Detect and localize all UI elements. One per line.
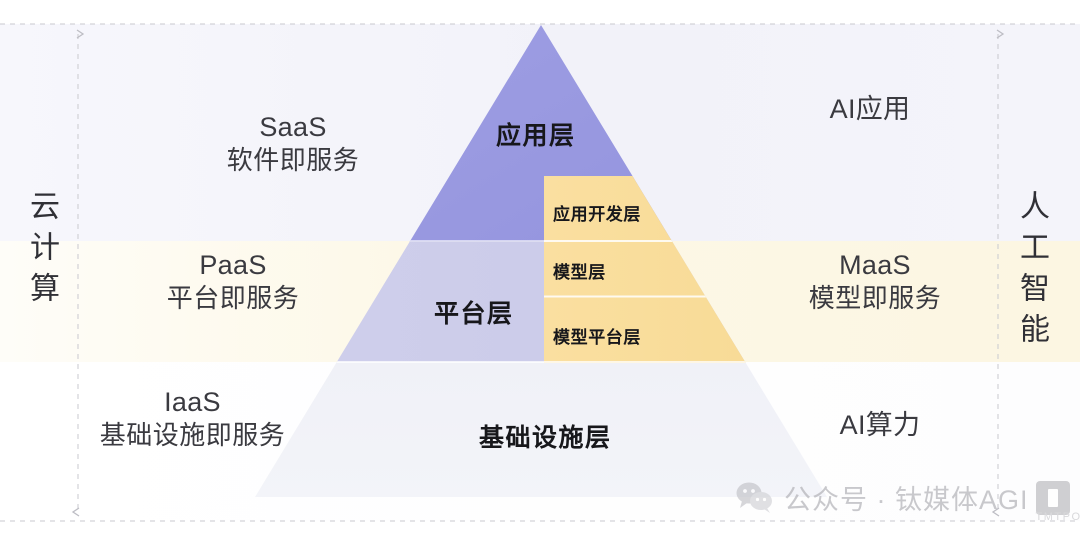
left-label-saas-en: SaaS — [208, 110, 378, 144]
right-label-ai-app: AI应用 — [785, 92, 955, 126]
left-axis-label: 云计算 — [26, 190, 56, 313]
left-label-iaas-cn: 基础设施即服务 — [90, 419, 295, 452]
pyramid-layer-infrastructure: 基础设施层 — [479, 418, 612, 454]
wechat-icon — [735, 481, 775, 515]
left-label-paas: PaaS 平台即服务 — [148, 248, 318, 315]
right-label-ai-compute: AI算力 — [795, 408, 965, 442]
ai-sublayer-model: 模型层 — [553, 258, 606, 283]
left-label-saas-cn: 软件即服务 — [208, 144, 378, 177]
right-label-ai-compute-en: AI算力 — [795, 408, 965, 442]
right-label-maas-cn: 模型即服务 — [785, 282, 965, 315]
pyramid-layer-platform: 平台层 — [434, 294, 514, 330]
left-label-paas-cn: 平台即服务 — [148, 282, 318, 315]
left-label-saas: SaaS 软件即服务 — [208, 110, 378, 177]
right-label-ai-app-en: AI应用 — [785, 92, 955, 126]
diagram-canvas: 云计算 人工智能 SaaS 软件即服务 PaaS 平台即服务 IaaS 基础设施… — [0, 0, 1080, 545]
tmtpost-caption: TMTPOST — [1036, 511, 1080, 523]
right-label-maas-en: MaaS — [785, 248, 965, 282]
ai-sublayer-model-platform: 模型平台层 — [553, 323, 641, 348]
right-label-maas: MaaS 模型即服务 — [785, 248, 965, 315]
tmtpost-logo: TMTPOST — [1036, 481, 1070, 515]
watermark: 公众号 · 钛媒体AGI TMTPOST — [735, 478, 1070, 517]
right-axis-label: 人工智能 — [1016, 190, 1046, 354]
left-label-iaas: IaaS 基础设施即服务 — [90, 385, 295, 452]
pyramid-layer-application: 应用层 — [496, 116, 576, 152]
watermark-text: 公众号 · 钛媒体AGI — [784, 478, 1029, 517]
left-label-paas-en: PaaS — [148, 248, 318, 282]
ai-sublayer-app-dev: 应用开发层 — [553, 200, 641, 225]
tmtpost-mark — [1036, 481, 1070, 515]
left-label-iaas-en: IaaS — [90, 385, 295, 419]
